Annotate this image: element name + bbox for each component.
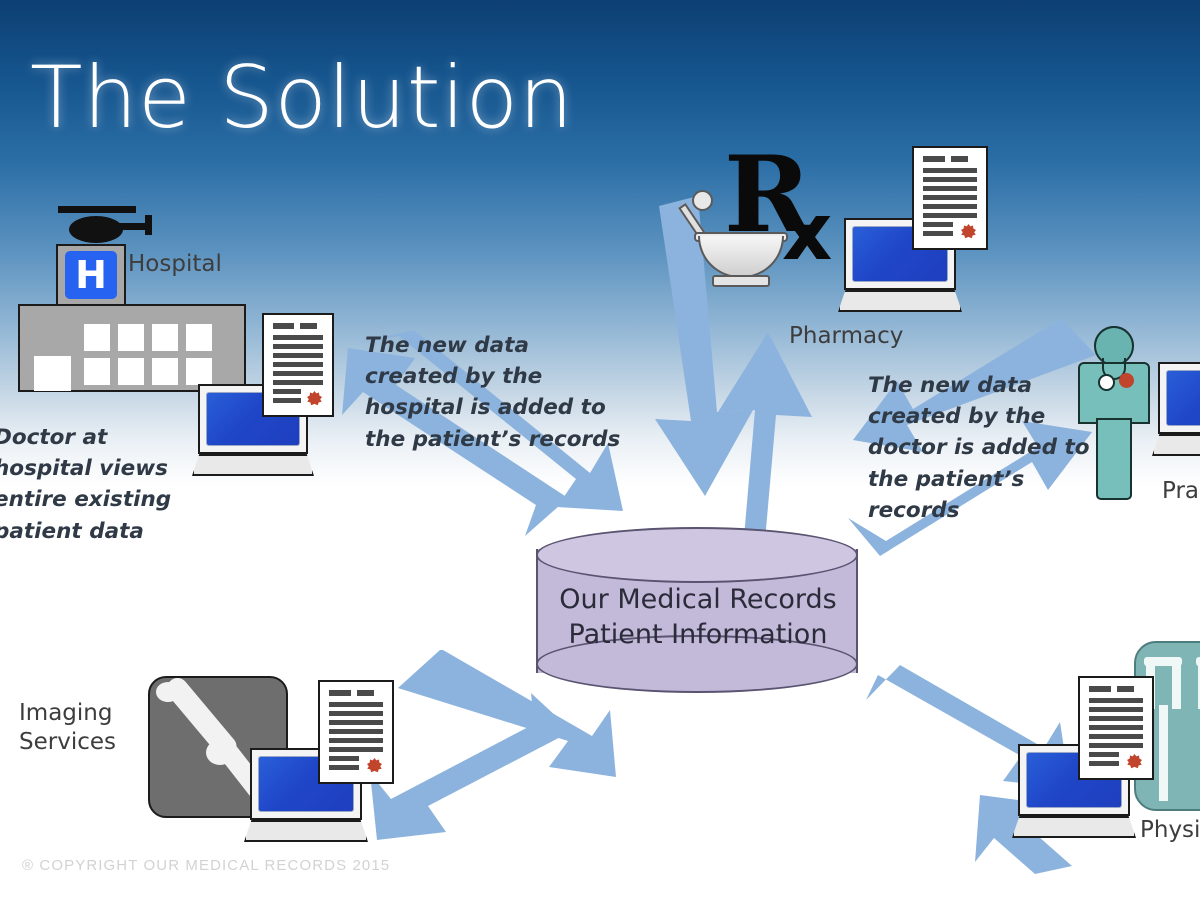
mortar-foot-icon [712, 275, 770, 287]
document-line [329, 738, 383, 743]
caption-hospital-view: Doctor at hospital views entire existing… [0, 422, 171, 547]
crutch-leg [1172, 663, 1181, 709]
document-line [1089, 752, 1119, 757]
document-line [1089, 707, 1143, 712]
stethoscope-bell-icon [1098, 374, 1115, 391]
laptop-screen [1166, 370, 1200, 426]
pharmacy-label: Pharmacy [789, 323, 903, 350]
document-seal-icon [367, 758, 382, 773]
document-line [329, 711, 383, 716]
hospital-window [118, 358, 144, 385]
hospital-icon: H [18, 206, 268, 391]
document-header [1089, 686, 1143, 692]
laptop-lid [1158, 362, 1200, 434]
caption-hospital-add: The new data created by the hospital is … [365, 330, 620, 455]
pharmacy-document-icon [912, 146, 988, 250]
document-line [329, 747, 383, 752]
document-line [1089, 761, 1119, 766]
document-line [1089, 743, 1143, 748]
imaging-label-line2: Services [19, 729, 116, 756]
document-line [923, 204, 977, 209]
pestle-knob-icon [692, 190, 713, 211]
laptop-base [1152, 434, 1200, 456]
rx-x-letter: x [782, 194, 832, 272]
physical-therapy-label: Physi [1140, 817, 1200, 844]
hospital-document-icon [262, 313, 334, 417]
page-title: The Solution [30, 55, 574, 141]
document-line [273, 335, 323, 340]
hospital-window [152, 324, 178, 351]
document-line [923, 186, 977, 191]
document-line [1089, 725, 1143, 730]
crutch-shaft [1159, 705, 1168, 801]
document-line [923, 168, 977, 173]
caption-doctor-add: The new data created by the doctor is ad… [868, 370, 1090, 526]
document-line [329, 720, 383, 725]
hospital-window [84, 324, 110, 351]
hospital-label: Hospital [128, 251, 222, 278]
hospital-window [84, 358, 110, 385]
document-line [273, 389, 301, 394]
laptop-base [1012, 816, 1136, 838]
hospital-door [34, 356, 71, 391]
document-line [329, 702, 383, 707]
document-seal-icon [961, 224, 976, 239]
document-line [273, 362, 323, 367]
doctor-cap-icon [1094, 326, 1134, 347]
hospital-window [118, 324, 144, 351]
document-line [923, 231, 953, 236]
practice-laptop-icon [1152, 362, 1200, 464]
document-line [923, 195, 977, 200]
imaging-label-line1: Imaging [19, 700, 112, 727]
document-line [273, 353, 323, 358]
database-line-2: Patient Information [536, 618, 860, 653]
document-line [273, 380, 323, 385]
doctor-legs-icon [1096, 418, 1132, 500]
document-line [273, 398, 301, 403]
helicopter-blade-icon [58, 206, 136, 213]
helicopter-fin-icon [145, 215, 152, 235]
document-header [329, 690, 383, 696]
copyright-notice: ® COPYRIGHT OUR MEDICAL RECORDS 2015 [22, 857, 390, 874]
pt-document-icon [1078, 676, 1154, 780]
helicopter-body-icon [69, 216, 123, 243]
hospital-window [186, 358, 212, 385]
document-seal-icon [307, 391, 322, 406]
document-line [1089, 734, 1143, 739]
central-database-cylinder: Our Medical Records Patient Information [536, 527, 860, 697]
database-line-1: Our Medical Records [536, 583, 860, 618]
imaging-document-icon [318, 680, 394, 784]
document-line [923, 213, 977, 218]
document-line [923, 222, 953, 227]
document-line [1089, 698, 1143, 703]
document-header [923, 156, 977, 162]
doctor-badge-icon [1119, 373, 1134, 388]
practice-label: Prac [1162, 478, 1200, 505]
document-line [1089, 716, 1143, 721]
document-line [329, 765, 359, 770]
hospital-window [152, 358, 178, 385]
document-line [329, 756, 359, 761]
hospital-window [186, 324, 212, 351]
database-text: Our Medical Records Patient Information [536, 583, 860, 652]
hospital-building [18, 304, 246, 392]
document-seal-icon [1127, 754, 1142, 769]
slide-canvas: The Solution H Hospital [0, 0, 1200, 900]
document-header [273, 323, 323, 329]
laptop-base [244, 820, 368, 842]
hospital-h-letter: H [75, 256, 107, 294]
document-line [329, 729, 383, 734]
laptop-base [838, 290, 962, 312]
laptop-base [192, 454, 314, 476]
cylinder-top-ellipse [536, 527, 858, 583]
mortar-bowl-icon [698, 236, 784, 278]
document-line [273, 371, 323, 376]
document-line [273, 344, 323, 349]
document-line [923, 177, 977, 182]
hospital-h-sign-icon: H [65, 251, 117, 299]
